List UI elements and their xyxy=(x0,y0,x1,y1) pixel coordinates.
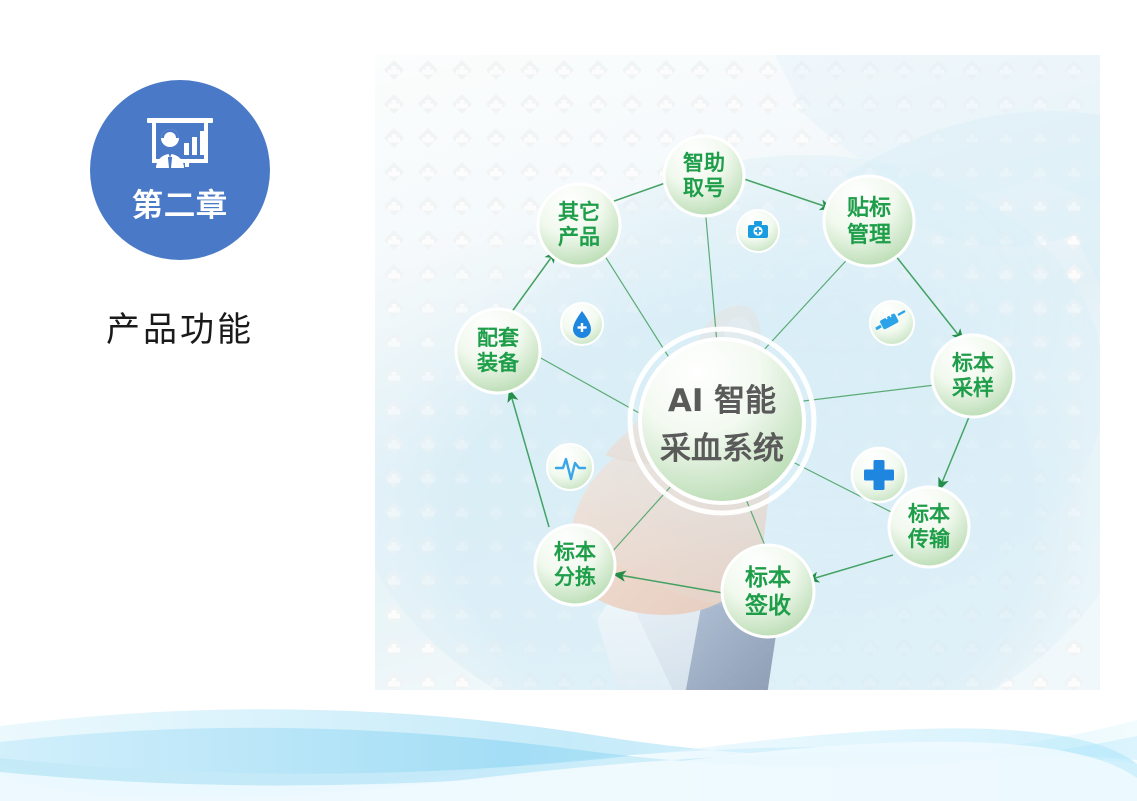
node-labeling-line2: 管理 xyxy=(847,222,891,248)
slide-canvas: 第二章 产品功能 xyxy=(0,0,1137,801)
icon-node-medical-kit[interactable] xyxy=(737,210,779,252)
arrow-sorting-to-equipment xyxy=(511,395,549,527)
node-transport-line2: 传输 xyxy=(907,527,951,551)
center-label-line2: 采血系统 xyxy=(660,431,784,467)
node-other-line1: 其它 xyxy=(558,200,600,224)
ai-blood-collection-diagram: AI 智能 采血系统 智助 取号 贴标 管理 标本 采样 标本 xyxy=(375,55,1100,690)
node-labeling[interactable]: 贴标 管理 xyxy=(824,176,914,266)
node-transport-line1: 标本 xyxy=(908,502,950,526)
chapter-number-label: 第二章 xyxy=(132,180,228,225)
node-sampling[interactable]: 标本 采样 xyxy=(932,335,1014,417)
chapter-badge: 第二章 xyxy=(90,80,270,260)
node-equipment[interactable]: 配套 装备 xyxy=(456,309,540,393)
node-labeling-line1: 贴标 xyxy=(847,195,891,221)
node-sorting-line2: 分拣 xyxy=(554,565,596,589)
icon-node-heartbeat[interactable] xyxy=(547,444,593,490)
node-transport[interactable]: 标本 传输 xyxy=(889,487,969,567)
node-ticket-line2: 取号 xyxy=(683,176,725,200)
node-ticket[interactable]: 智助 取号 xyxy=(664,136,744,216)
node-sorting-line1: 标本 xyxy=(554,540,596,564)
arrow-sampling-to-transport xyxy=(941,417,969,485)
icon-node-blood-drop[interactable] xyxy=(561,303,603,345)
diagram-panel: AI 智能 采血系统 智助 取号 贴标 管理 标本 采样 标本 xyxy=(375,55,1100,690)
arrow-transport-to-receipt xyxy=(812,555,893,579)
node-equipment-line1: 配套 xyxy=(477,326,519,350)
arrow-receipt-to-sorting xyxy=(619,575,723,593)
bottom-wave-decoration xyxy=(0,686,1137,801)
node-receipt[interactable]: 标本 签收 xyxy=(722,545,814,637)
node-receipt-line2: 签收 xyxy=(744,592,791,619)
node-other-line2: 产品 xyxy=(558,225,600,249)
center-node[interactable]: AI 智能 采血系统 xyxy=(630,329,814,513)
node-sampling-line1: 标本 xyxy=(952,351,994,375)
node-sampling-line2: 采样 xyxy=(952,376,994,400)
node-receipt-line1: 标本 xyxy=(745,565,791,591)
center-label-line1: AI 智能 xyxy=(668,383,776,419)
arrow-ticket-to-label xyxy=(744,179,827,207)
node-other-products[interactable]: 其它 产品 xyxy=(538,184,620,266)
node-equipment-line2: 装备 xyxy=(477,351,520,375)
icon-node-medical-cross[interactable] xyxy=(852,448,906,502)
presentation-chart-person-icon xyxy=(143,116,217,174)
node-ticket-line1: 智助 xyxy=(683,151,725,175)
chapter-block: 第二章 产品功能 xyxy=(0,80,360,400)
node-sorting[interactable]: 标本 分拣 xyxy=(535,525,615,605)
icon-node-syringe[interactable] xyxy=(870,301,914,345)
arrow-equipment-to-other xyxy=(511,255,553,313)
section-title: 产品功能 xyxy=(106,302,254,351)
